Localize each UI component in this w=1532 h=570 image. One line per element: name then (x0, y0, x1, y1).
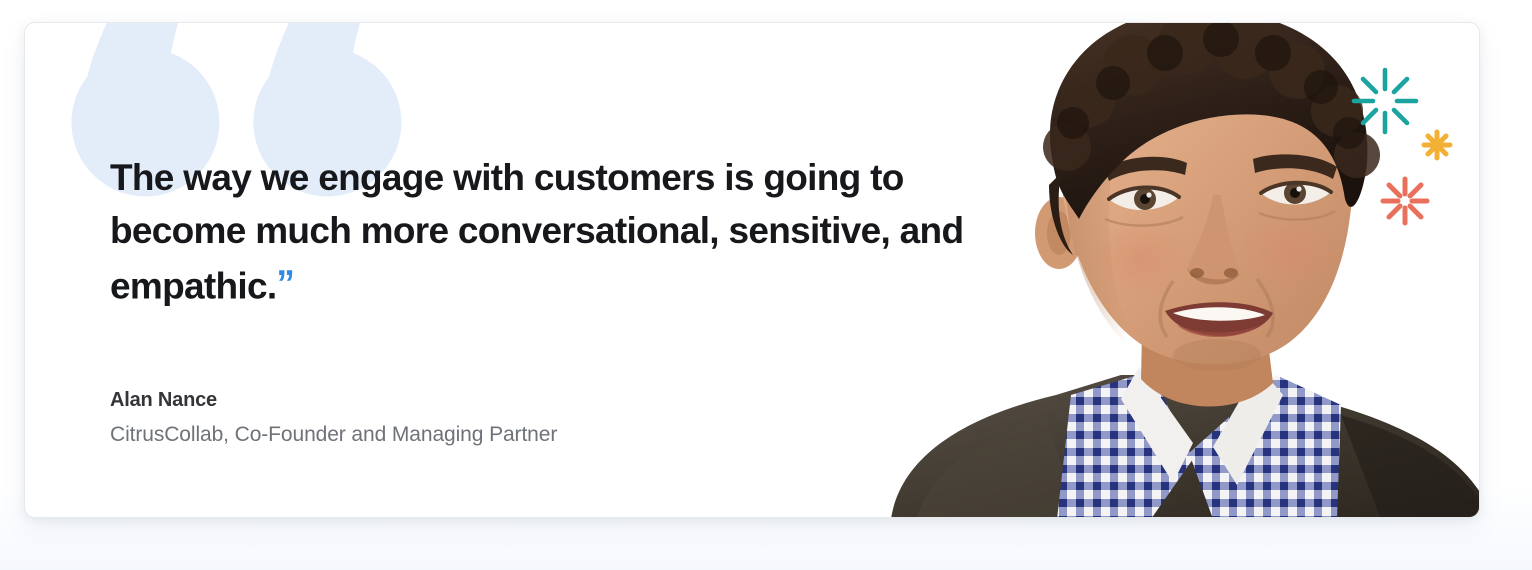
quote-sentence: The way we engage with customers is goin… (110, 157, 963, 307)
closing-quote-mark: ” (276, 263, 294, 304)
page-canvas: The way we engage with customers is goin… (0, 0, 1532, 570)
attribution: Alan Nance CitrusCollab, Co-Founder and … (110, 387, 557, 450)
author-role: CitrusCollab, Co-Founder and Managing Pa… (110, 420, 557, 450)
quote-body: The way we engage with customers is goin… (110, 151, 990, 313)
quote-text: The way we engage with customers is goin… (110, 151, 970, 313)
testimonial-card: The way we engage with customers is goin… (24, 22, 1480, 518)
author-name: Alan Nance (110, 387, 557, 413)
